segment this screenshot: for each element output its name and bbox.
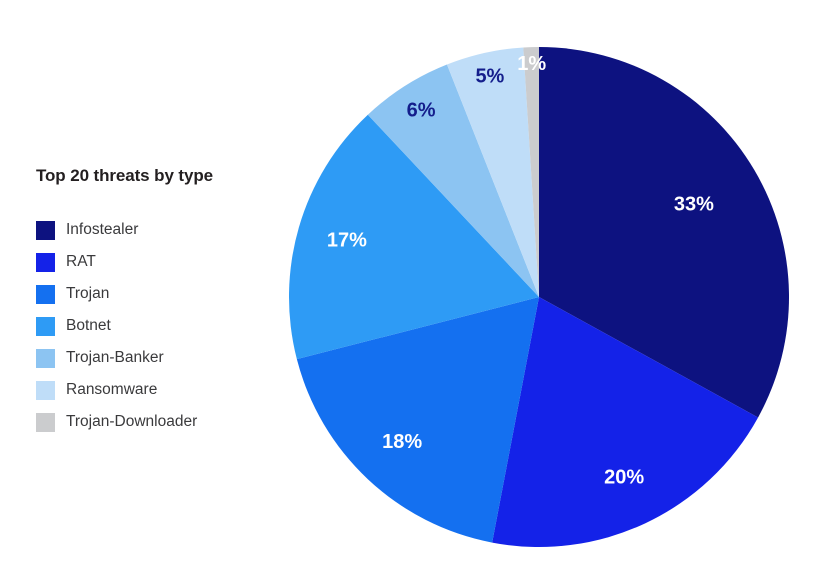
legend-item[interactable]: Ransomware bbox=[36, 374, 276, 406]
legend-item-label: Trojan bbox=[66, 286, 109, 302]
legend-item[interactable]: Trojan bbox=[36, 278, 276, 310]
legend-item[interactable]: Trojan-Banker bbox=[36, 342, 276, 374]
legend-item[interactable]: Infostealer bbox=[36, 214, 276, 246]
legend-item-label: Botnet bbox=[66, 318, 111, 334]
pie-slice-label: 5% bbox=[475, 66, 504, 88]
pie-slice-label: 6% bbox=[407, 99, 436, 121]
legend-color-swatch bbox=[36, 413, 55, 432]
legend-color-swatch bbox=[36, 349, 55, 368]
pie-slice-label: 1% bbox=[517, 53, 546, 75]
legend-color-swatch bbox=[36, 221, 55, 240]
legend-item-label: Trojan-Banker bbox=[66, 350, 164, 366]
legend-item-label: Trojan-Downloader bbox=[66, 414, 197, 430]
legend-color-swatch bbox=[36, 317, 55, 336]
legend-item-label: Ransomware bbox=[66, 382, 157, 398]
legend-item-label: RAT bbox=[66, 254, 96, 270]
pie-slice-label: 20% bbox=[604, 466, 644, 488]
pie-slice-label: 18% bbox=[382, 431, 422, 453]
legend-item-list: InfostealerRATTrojanBotnetTrojan-BankerR… bbox=[36, 214, 276, 438]
legend-item-label: Infostealer bbox=[66, 222, 138, 238]
pie-slice-label: 17% bbox=[327, 229, 367, 251]
chart-legend: Top 20 threats by type InfostealerRATTro… bbox=[36, 166, 276, 438]
legend-item[interactable]: Trojan-Downloader bbox=[36, 406, 276, 438]
pie-slice-group bbox=[289, 47, 789, 547]
legend-item[interactable]: Botnet bbox=[36, 310, 276, 342]
legend-color-swatch bbox=[36, 253, 55, 272]
pie-slice-label: 33% bbox=[674, 194, 714, 216]
pie-chart-svg: 33%20%18%17%6%5%1% bbox=[288, 46, 790, 548]
legend-color-swatch bbox=[36, 381, 55, 400]
pie-chart: 33%20%18%17%6%5%1% bbox=[288, 46, 790, 548]
legend-item[interactable]: RAT bbox=[36, 246, 276, 278]
page-title: Top 20 threats by type bbox=[36, 166, 276, 186]
legend-color-swatch bbox=[36, 285, 55, 304]
